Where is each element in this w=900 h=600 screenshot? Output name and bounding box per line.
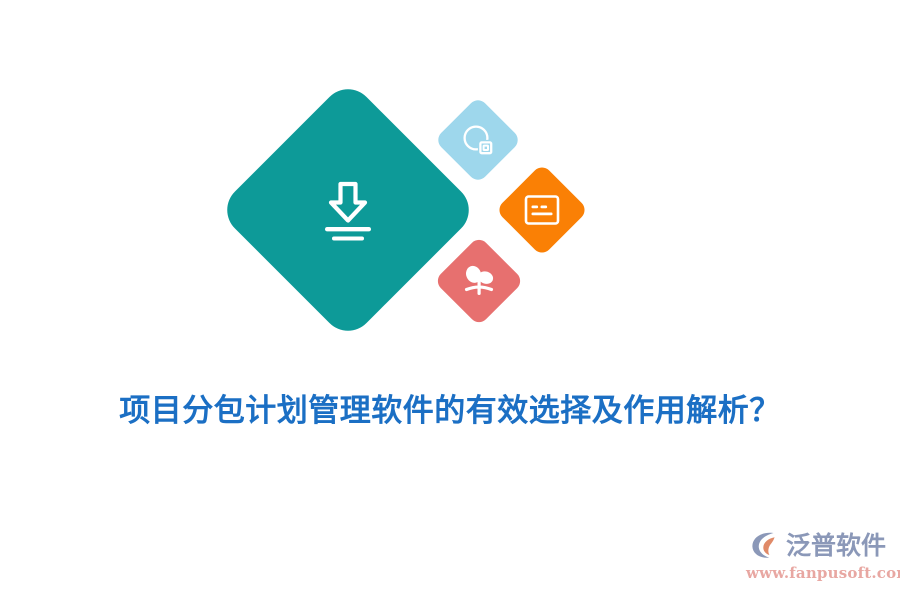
brand-url: www.fanpusoft.com [746,566,886,581]
pie-chart-icon [461,123,495,157]
fanpu-swoosh-logo-icon [749,529,783,561]
download-icon [311,173,385,247]
page-root: 项目分包计划管理软件的有效选择及作用解析？ 泛普软件 www.fanpusoft… [0,0,900,600]
diamond-tile-main [216,78,479,341]
diamond-tile-analytics [434,96,522,184]
diamond-tile-record [495,163,588,256]
brand-logo-row: 泛普软件 [746,528,886,562]
page-title: 项目分包计划管理软件的有效选择及作用解析？ [0,385,900,430]
brand-name: 泛普软件 [786,533,886,558]
sprout-icon [461,263,497,299]
card-list-icon [524,194,560,226]
brand-watermark: 泛普软件 www.fanpusoft.com [746,528,886,586]
diamond-tile-growth [434,236,525,327]
diamond-icon-cluster [0,0,900,360]
